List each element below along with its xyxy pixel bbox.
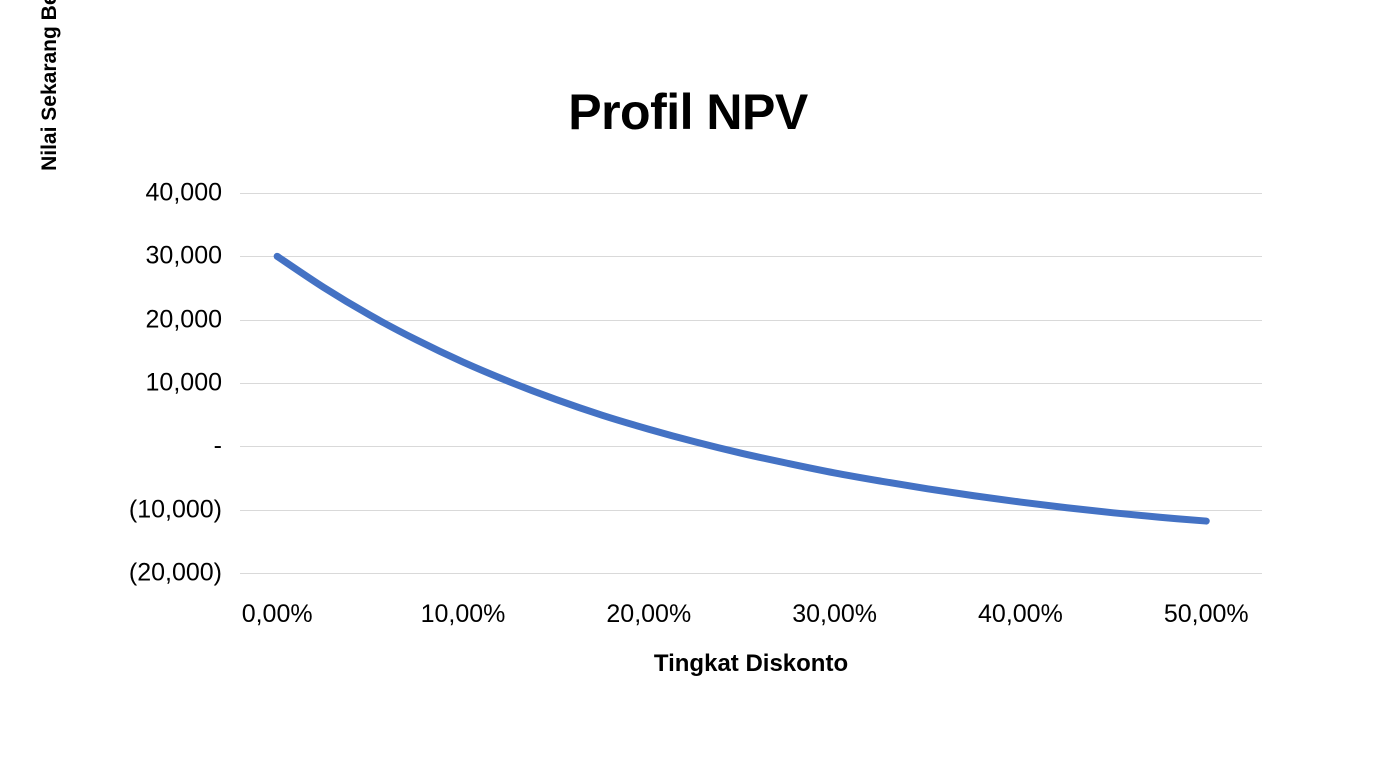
y-tick-label: 10,000	[22, 369, 222, 398]
x-axis-title: Tingkat Diskonto	[240, 650, 1262, 678]
gridline	[240, 510, 1262, 511]
y-tick-label: (10,000)	[22, 495, 222, 524]
x-tick-label: 20,00%	[549, 600, 749, 629]
npv-profile-chart: Profil NPV Nilai Sekarang Bersih Proyek …	[0, 0, 1376, 768]
gridline	[240, 573, 1262, 574]
y-tick-label: 30,000	[22, 242, 222, 271]
gridline	[240, 383, 1262, 384]
plot-area	[240, 193, 1262, 573]
y-tick-label: -	[22, 432, 222, 461]
x-tick-label: 50,00%	[1106, 600, 1306, 629]
gridline	[240, 193, 1262, 194]
x-tick-label: 30,00%	[735, 600, 935, 629]
gridline	[240, 320, 1262, 321]
y-tick-label: 20,000	[22, 305, 222, 334]
gridline	[240, 256, 1262, 257]
chart-title: Profil NPV	[0, 86, 1376, 139]
x-tick-label: 40,00%	[920, 600, 1120, 629]
y-tick-label: (20,000)	[22, 559, 222, 588]
x-tick-label: 10,00%	[363, 600, 563, 629]
gridline	[240, 446, 1262, 447]
y-tick-label: 40,000	[22, 179, 222, 208]
x-tick-label: 0,00%	[177, 600, 377, 629]
